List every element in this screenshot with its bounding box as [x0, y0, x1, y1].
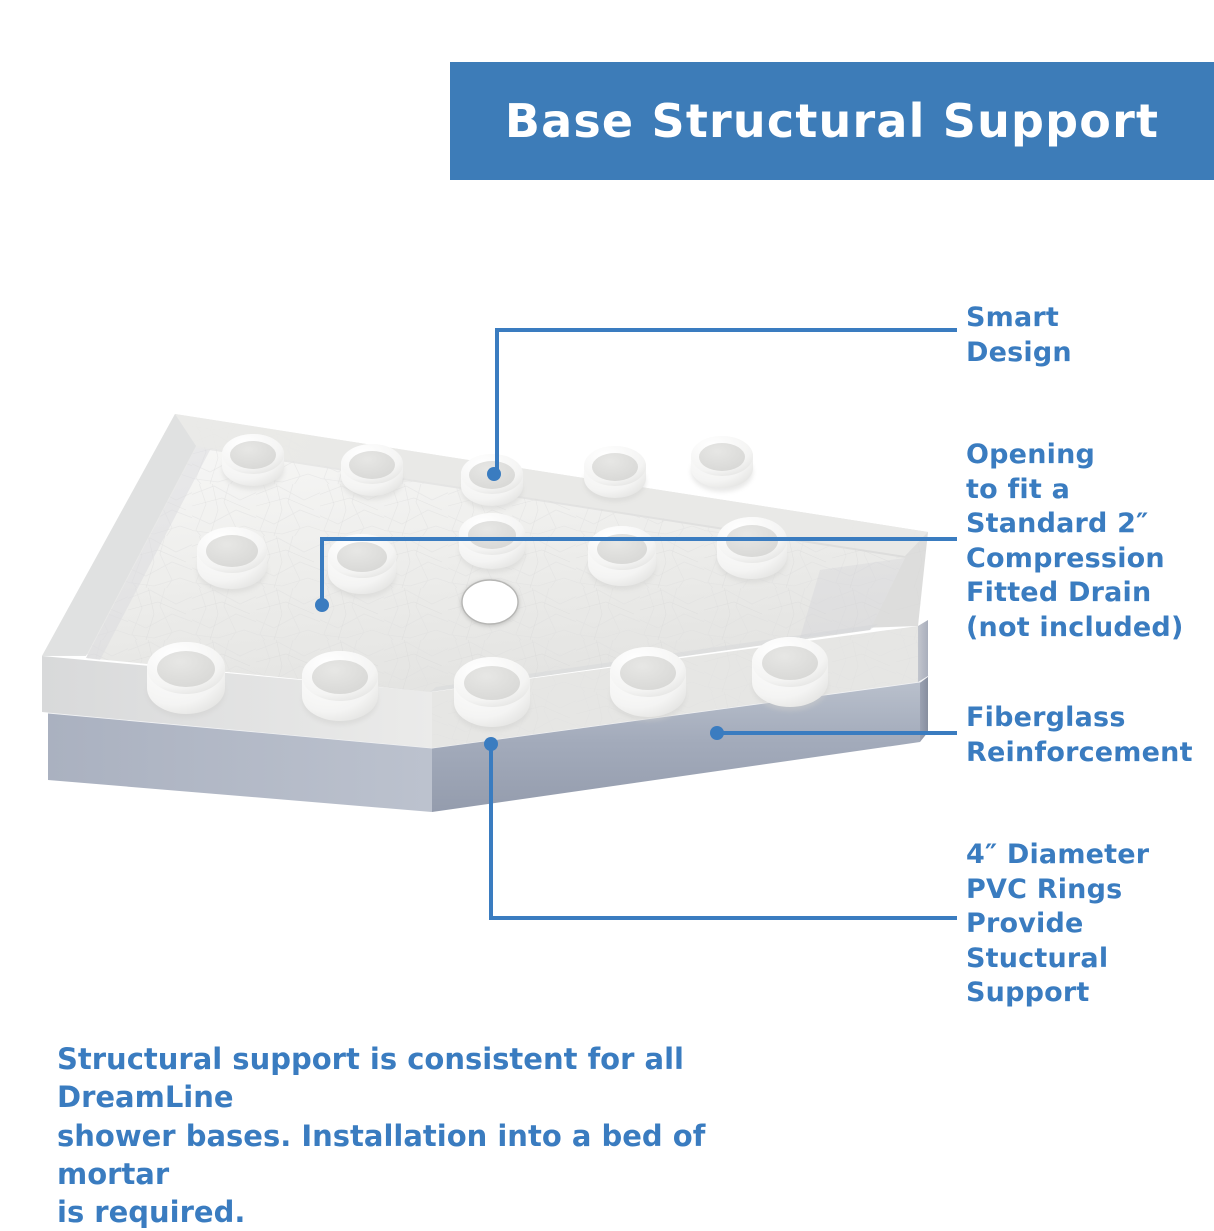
- pvc-ring-icon: [222, 434, 284, 490]
- infographic-page: Base Structural Support: [0, 0, 1214, 1214]
- pvc-ring-icon: [341, 444, 403, 500]
- pvc-ring-icon: [454, 657, 530, 731]
- product-illustration: [0, 380, 960, 850]
- pan-rim-right-wall: [918, 620, 928, 682]
- pvc-ring-icon: [328, 534, 396, 598]
- page-title: Base Structural Support: [505, 94, 1159, 148]
- pvc-ring-icon: [588, 526, 656, 590]
- callout-label-drain-opening: Opening to fit a Standard 2″ Compression…: [966, 438, 1183, 645]
- callout-label-fiberglass-reinforcement: Fiberglass Reinforcement: [966, 701, 1193, 770]
- pvc-ring-icon: [752, 637, 828, 711]
- pvc-ring-icon: [197, 527, 267, 593]
- pvc-ring-icon: [302, 651, 378, 725]
- shower-base-drawing: [0, 380, 960, 850]
- pvc-ring-icon: [459, 513, 525, 573]
- callout-label-smart-design: Smart Design: [966, 301, 1072, 370]
- pvc-ring-icon: [461, 454, 523, 510]
- header-banner: Base Structural Support: [450, 62, 1214, 180]
- pan-skirt-right-face: [920, 676, 928, 742]
- pvc-ring-icon: [610, 647, 686, 721]
- callout-label-pvc-rings: 4″ Diameter PVC Rings Provide Stuctural …: [966, 838, 1149, 1011]
- pvc-ring-icon: [691, 436, 753, 492]
- footer-caption: Structural support is consistent for all…: [57, 1040, 797, 1231]
- pvc-ring-icon: [717, 517, 787, 583]
- drain-hole-icon: [461, 580, 519, 626]
- pvc-ring-icon: [584, 446, 646, 502]
- pvc-ring-icon: [147, 642, 225, 718]
